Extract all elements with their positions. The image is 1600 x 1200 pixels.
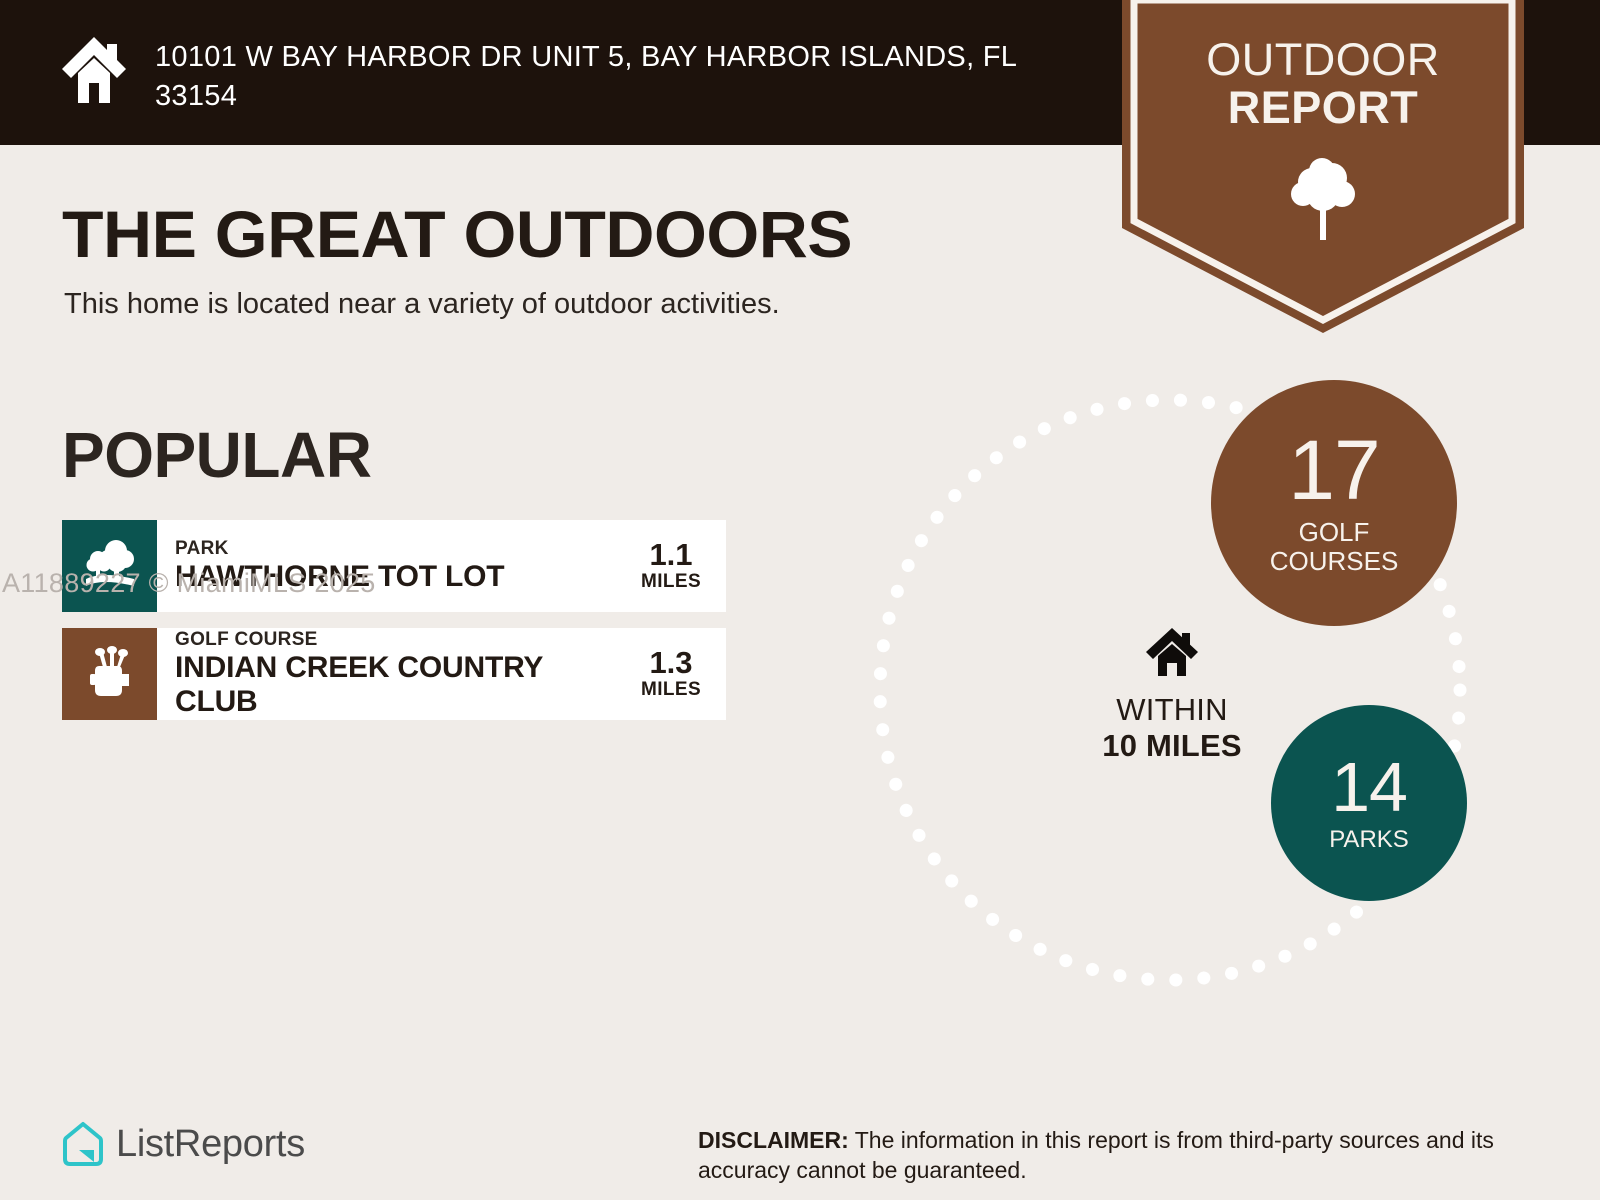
golf-bag-icon-box [62,628,157,720]
list-item-category: PARK [175,538,630,560]
list-item-distance-value: 1.3 [649,647,692,679]
golf-bag-icon [82,644,138,705]
stat-value: 17 [1288,430,1379,510]
listreports-logo[interactable]: ListReports [62,1121,305,1167]
list-item-category: GOLF COURSE [175,629,630,651]
list-item[interactable]: GOLF COURSE INDIAN CREEK COUNTRY CLUB 1.… [62,628,726,720]
popular-list: PARK HAWTHORNE TOT LOT 1.1 MILES [62,520,726,736]
stat-circle-parks[interactable]: 14 PARKS [1271,705,1467,901]
within-10-miles-diagram: 17 GOLF COURSES 14 PARKS WITHIN 10 MILES [820,380,1520,1000]
section-heading-popular: POPULAR [62,418,371,492]
page-subtitle: This home is located near a variety of o… [64,288,780,321]
list-item-distance: 1.1 MILES [630,520,726,612]
stat-circle-golf-courses[interactable]: 17 GOLF COURSES [1211,380,1457,626]
stat-label: PARKS [1329,826,1409,853]
mls-watermark: A11889227 © MiamiMLS 2025 [2,568,376,599]
list-item-distance-unit: MILES [641,679,701,701]
listreports-house-pin-icon [62,1121,104,1167]
home-icon [1144,626,1200,678]
within-label-line2: 10 MILES [1052,728,1292,764]
disclaimer: DISCLAIMER: The information in this repo… [698,1125,1508,1185]
property-address: 10101 W BAY HARBOR DR UNIT 5, BAY HARBOR… [155,38,1105,116]
listreports-logo-text: ListReports [116,1123,305,1166]
stat-value: 14 [1331,754,1407,820]
badge-title-line2: REPORT [1122,84,1524,132]
home-icon [58,33,130,105]
within-label-line1: WITHIN [1052,692,1292,728]
badge-title-line1: OUTDOOR [1122,36,1524,84]
diagram-center-block: WITHIN 10 MILES [1052,626,1292,764]
list-item-name: INDIAN CREEK COUNTRY CLUB [175,651,630,719]
list-item-distance-value: 1.1 [649,539,692,571]
badge-title: OUTDOOR REPORT [1122,36,1524,132]
outdoor-report-badge: OUTDOOR REPORT [1122,0,1524,333]
stat-label-line1: GOLF [1270,518,1399,547]
stat-label: GOLF COURSES [1270,518,1399,576]
list-item-distance: 1.3 MILES [630,628,726,720]
stat-label-line2: COURSES [1270,547,1399,576]
disclaimer-label: DISCLAIMER: [698,1127,849,1153]
list-item-distance-unit: MILES [641,571,701,593]
list-item-text: GOLF COURSE INDIAN CREEK COUNTRY CLUB [157,628,630,720]
tree-icon [1288,158,1358,243]
page-title: THE GREAT OUTDOORS [62,196,852,272]
